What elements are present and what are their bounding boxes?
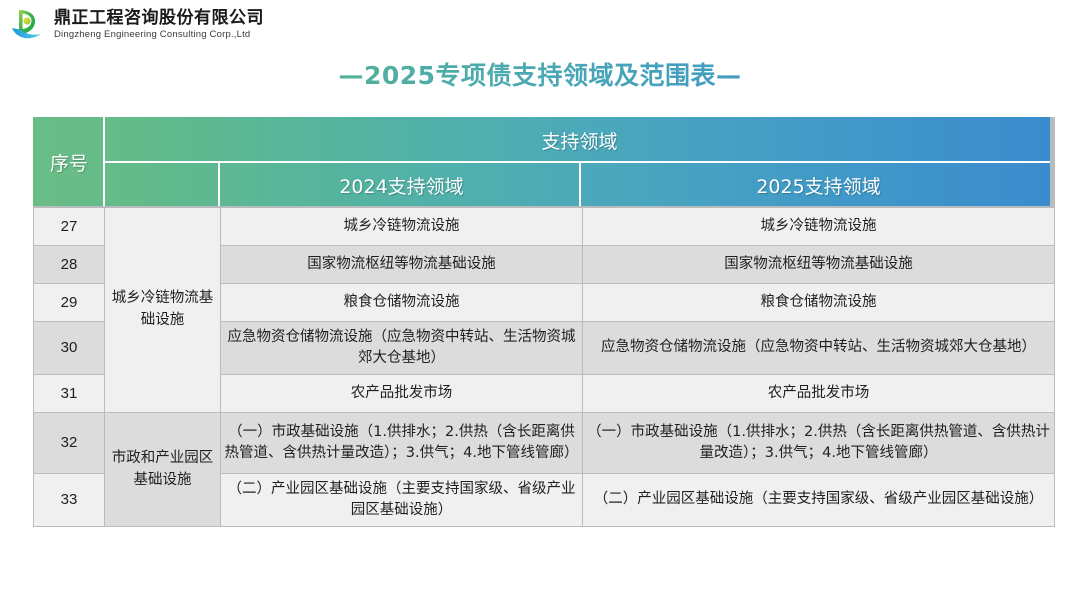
- column-header-2024: 2024支持领域: [221, 163, 582, 207]
- support-scope-table-container: 序号 支持领域 2024支持领域 2025支持领域 27 城乡冷链物流基础设施 …: [33, 117, 1050, 527]
- row-index: 29: [34, 284, 104, 321]
- column-header-group-support-scope: 支持领域: [105, 118, 1054, 162]
- cell-2024: （一）市政基础设施（1.供排水；2.供热（含长距离供热管道、含供热计量改造）；3…: [221, 413, 582, 473]
- brand-header: 鼎正工程咨询股份有限公司 Dingzheng Engineering Consu…: [8, 4, 264, 46]
- company-name-en: Dingzheng Engineering Consulting Corp.,L…: [54, 30, 264, 40]
- cell-2025: 粮食仓储物流设施: [583, 284, 1054, 321]
- table-row: 32 市政和产业园区基础设施 （一）市政基础设施（1.供排水；2.供热（含长距离…: [34, 413, 1054, 473]
- cell-2024: 城乡冷链物流设施: [221, 208, 582, 245]
- table-header-row-sub: 2024支持领域 2025支持领域: [34, 163, 1054, 207]
- row-index: 32: [34, 413, 104, 473]
- category-cell: 市政和产业园区基础设施: [105, 413, 220, 526]
- page-title: —2025专项债支持领域及范围表—: [0, 56, 1080, 92]
- table-head: 序号 支持领域 2024支持领域 2025支持领域: [34, 118, 1054, 207]
- table-body: 27 城乡冷链物流基础设施 城乡冷链物流设施 城乡冷链物流设施 28 国家物流枢…: [34, 208, 1054, 526]
- cell-2025: 城乡冷链物流设施: [583, 208, 1054, 245]
- cell-2024: 粮食仓储物流设施: [221, 284, 582, 321]
- support-scope-table: 序号 支持领域 2024支持领域 2025支持领域 27 城乡冷链物流基础设施 …: [33, 117, 1055, 527]
- cell-2025: 农产品批发市场: [583, 375, 1054, 412]
- table-header-row-group: 序号 支持领域: [34, 118, 1054, 162]
- cell-2024: （二）产业园区基础设施（主要支持国家级、省级产业园区基础设施）: [221, 474, 582, 526]
- column-header-category: [105, 163, 220, 207]
- cell-2025: （一）市政基础设施（1.供排水；2.供热（含长距离供热管道、含供热计量改造）；3…: [583, 413, 1054, 473]
- row-index: 28: [34, 246, 104, 283]
- column-header-index: 序号: [34, 118, 104, 207]
- cell-2025: 国家物流枢纽等物流基础设施: [583, 246, 1054, 283]
- category-cell: 城乡冷链物流基础设施: [105, 208, 220, 412]
- cell-2024: 国家物流枢纽等物流基础设施: [221, 246, 582, 283]
- cell-2025: （二）产业园区基础设施（主要支持国家级、省级产业园区基础设施）: [583, 474, 1054, 526]
- row-index: 27: [34, 208, 104, 245]
- row-index: 30: [34, 322, 104, 374]
- cell-2024: 农产品批发市场: [221, 375, 582, 412]
- column-header-2025: 2025支持领域: [583, 163, 1054, 207]
- row-index: 31: [34, 375, 104, 412]
- row-index: 33: [34, 474, 104, 526]
- table-row: 27 城乡冷链物流基础设施 城乡冷链物流设施 城乡冷链物流设施: [34, 208, 1054, 245]
- cell-2024: 应急物资仓储物流设施（应急物资中转站、生活物资城郊大仓基地）: [221, 322, 582, 374]
- cell-2025: 应急物资仓储物流设施（应急物资中转站、生活物资城郊大仓基地）: [583, 322, 1054, 374]
- brand-text-block: 鼎正工程咨询股份有限公司 Dingzheng Engineering Consu…: [54, 10, 264, 41]
- dingzheng-leaf-d-logo-icon: [8, 4, 50, 46]
- company-name-cn: 鼎正工程咨询股份有限公司: [54, 10, 264, 28]
